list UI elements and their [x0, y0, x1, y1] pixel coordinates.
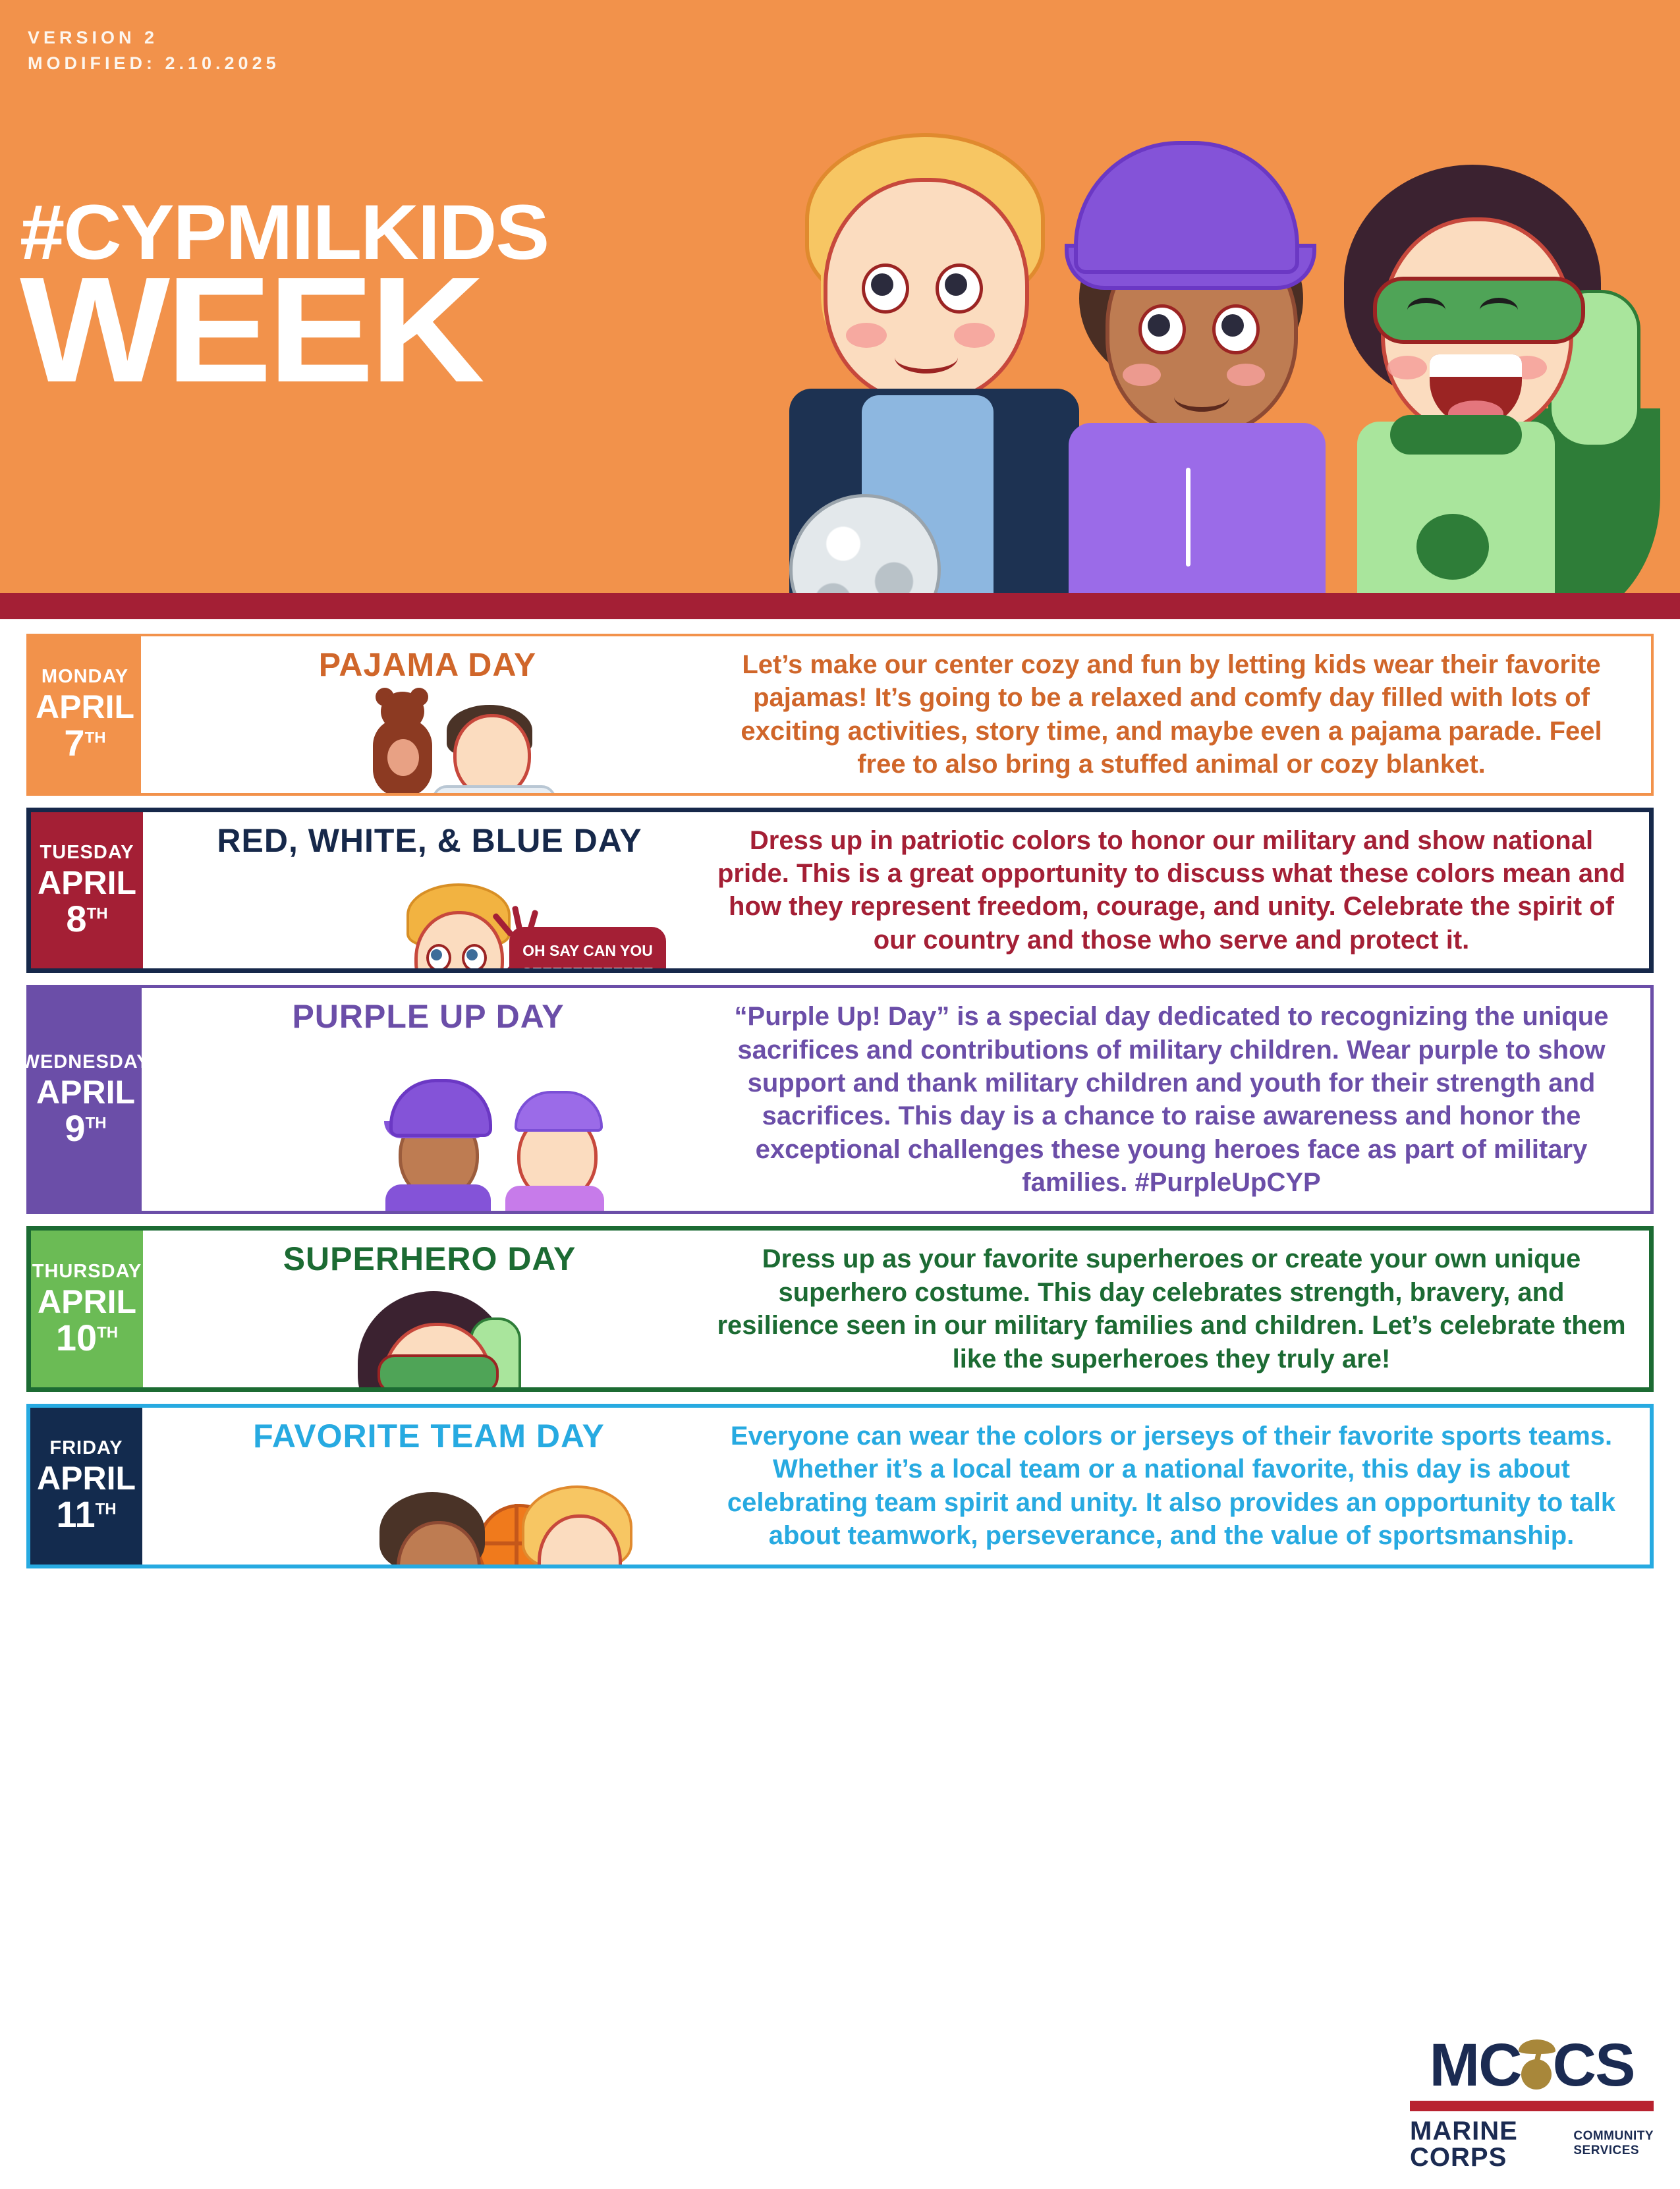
- day-number-label: 7TH: [64, 725, 105, 762]
- day-of-week-label: MONDAY: [42, 667, 128, 686]
- two-children-sports-illustration: 31: [366, 1472, 643, 1565]
- month-label: APRIL: [36, 1076, 135, 1109]
- kid-superhero-illustration: [1318, 125, 1660, 593]
- pajama-day-illustration: [141, 684, 714, 793]
- cat-emblem-icon: [1416, 514, 1489, 580]
- speech-bubble: OH SAY CAN YOU SEEEEEEEEEEEE: [509, 927, 666, 969]
- mccs-logo: MC CS MARINE CORPS COMMUNITY SERVICES: [1410, 2035, 1654, 2171]
- day-of-week-label: TUESDAY: [40, 843, 134, 862]
- kid-purple-cap-illustration: [1054, 125, 1337, 593]
- date-bar-monday: MONDAY APRIL 7TH: [29, 636, 141, 793]
- face-shape: [453, 714, 531, 793]
- day-title-red-white-blue-day: RED, WHITE, & BLUE DAY: [217, 821, 642, 860]
- child-in-pajamas-illustration: [418, 714, 589, 793]
- purple-headband-icon: [515, 1091, 603, 1132]
- day-row-wednesday[interactable]: WEDNESDAY APRIL 9TH PURPLE UP DAY: [26, 985, 1654, 1214]
- mccs-red-rule: [1410, 2101, 1654, 2111]
- day-content-monday: PAJAMA DAY: [141, 636, 1651, 793]
- schedule-list: MONDAY APRIL 7TH PAJAMA DAY: [0, 634, 1680, 1580]
- title-week: WEEK: [20, 269, 559, 392]
- hoodie-shape: [385, 1184, 491, 1211]
- cheek-right: [1227, 364, 1265, 386]
- services-label: SERVICES: [1573, 2144, 1639, 2157]
- mccs-wordmark-row: MC CS: [1410, 2035, 1654, 2095]
- page-header: VERSION 2 MODIFIED: 2.10.2025 #CYPMILKID…: [0, 0, 1680, 593]
- description-text: Let’s make our center cozy and fun by le…: [714, 648, 1629, 781]
- day-title-and-art-tuesday: RED, WHITE, & BLUE DAY ★: [143, 812, 716, 969]
- day-title-superhero-day: SUPERHERO DAY: [283, 1240, 576, 1278]
- day-of-week-label: THURSDAY: [32, 1262, 142, 1281]
- favorite-team-illustration: 31: [142, 1455, 715, 1565]
- day-title-and-art-monday: PAJAMA DAY: [141, 636, 714, 793]
- day-description-monday: Let’s make our center cozy and fun by le…: [714, 636, 1651, 793]
- day-number-label: 11TH: [56, 1496, 116, 1533]
- speech-line-2: SEEEEEEEEEEEE: [522, 962, 653, 969]
- purple-cap-icon: [1074, 141, 1299, 274]
- day-title-and-art-thursday: SUPERHERO DAY: [143, 1231, 716, 1387]
- ordinal-suffix: TH: [96, 1501, 117, 1518]
- marine-corps-label: MARINE CORPS: [1410, 2118, 1565, 2171]
- eye-left: [1407, 298, 1445, 323]
- day-description-friday: Everyone can wear the colors or jerseys …: [715, 1408, 1650, 1565]
- day-title-purple-up-day: PURPLE UP DAY: [292, 997, 564, 1036]
- purple-cap-icon: [389, 1079, 492, 1137]
- cheek-left: [846, 323, 887, 348]
- modified-label: MODIFIED: 2.10.2025: [28, 51, 280, 76]
- day-content-tuesday: RED, WHITE, & BLUE DAY ★: [143, 812, 1649, 969]
- day-number-label: 8TH: [66, 901, 107, 937]
- day-title-favorite-team-day: FAVORITE TEAM DAY: [253, 1417, 605, 1455]
- month-label: APRIL: [36, 690, 134, 723]
- cape-collar: [1390, 415, 1522, 455]
- month-label: APRIL: [38, 866, 136, 899]
- day-of-week-label: WEDNESDAY: [22, 1053, 150, 1072]
- pupil-right: [1221, 314, 1244, 337]
- ordinal-suffix: TH: [86, 1114, 107, 1132]
- ordinal-suffix: TH: [85, 729, 106, 747]
- day-description-tuesday: Dress up in patriotic colors to honor ou…: [716, 812, 1649, 969]
- day-description-thursday: Dress up as your favorite superheroes or…: [716, 1231, 1649, 1387]
- date-bar-thursday: THURSDAY APRIL 10TH: [31, 1231, 143, 1387]
- day-content-friday: FAVORITE TEAM DAY 31: [142, 1408, 1650, 1565]
- pajama-suit-shape: [432, 785, 556, 793]
- version-label: VERSION 2: [28, 25, 280, 51]
- superhero-mask-icon: [1373, 277, 1585, 344]
- mouth-smile: [1174, 382, 1229, 412]
- pupil-left: [1148, 314, 1170, 337]
- day-of-week-label: FRIDAY: [49, 1439, 123, 1458]
- month-label: APRIL: [37, 1462, 136, 1495]
- day-row-thursday[interactable]: THURSDAY APRIL 10TH SUPERHERO DAY: [26, 1226, 1654, 1392]
- header-kids-illustration: [771, 99, 1680, 593]
- day-content-thursday: SUPERHERO DAY Dress u: [143, 1231, 1649, 1387]
- day-title-pajama-day: PAJAMA DAY: [319, 646, 536, 684]
- ordinal-suffix: TH: [87, 904, 108, 922]
- hashtag-purpleupcyp: #PurpleUpCYP: [1134, 1168, 1320, 1197]
- bear-belly: [387, 739, 419, 776]
- description-text: “Purple Up! Day” is a special day dedica…: [715, 1000, 1628, 1199]
- day-title-and-art-friday: FAVORITE TEAM DAY 31: [142, 1408, 715, 1565]
- cheek-right: [954, 323, 995, 348]
- community-label: COMMUNITY: [1573, 2129, 1654, 2143]
- day-content-wednesday: PURPLE UP DAY: [142, 988, 1650, 1211]
- eye-right: [1480, 298, 1518, 323]
- page-footer: MC CS MARINE CORPS COMMUNITY SERVICES: [0, 2057, 1680, 2189]
- description-text: Dress up in patriotic colors to honor ou…: [716, 824, 1627, 957]
- globe-shape: [1521, 2059, 1552, 2090]
- purple-up-illustration: [142, 1036, 715, 1211]
- month-label: APRIL: [38, 1285, 136, 1318]
- date-bar-wednesday: WEDNESDAY APRIL 9TH: [30, 988, 142, 1211]
- date-bar-friday: FRIDAY APRIL 11TH: [30, 1408, 142, 1565]
- day-title-and-art-wednesday: PURPLE UP DAY: [142, 988, 715, 1211]
- day-row-monday[interactable]: MONDAY APRIL 7TH PAJAMA DAY: [26, 634, 1654, 796]
- two-children-in-purple-illustration: [366, 1065, 629, 1211]
- mccs-letters-right: CS: [1553, 2035, 1635, 2095]
- hoodie-shape: [1069, 423, 1326, 593]
- mccs-tagline-row: MARINE CORPS COMMUNITY SERVICES: [1410, 2118, 1654, 2171]
- speech-line-1: OH SAY CAN YOU: [522, 940, 653, 962]
- singing-child-illustration: ★ OH SAY CAN YOU SEEEEEEEEEEEE: [380, 883, 598, 969]
- description-text: Dress up as your favorite superheroes or…: [716, 1242, 1627, 1375]
- pupil-left: [871, 273, 893, 296]
- superhero-mask-icon: [378, 1354, 499, 1387]
- mccs-letters-left: MC: [1430, 2035, 1521, 2095]
- day-row-friday[interactable]: FRIDAY APRIL 11TH FAVORITE TEAM DAY 31: [26, 1404, 1654, 1568]
- pupil-left: [431, 949, 442, 960]
- pupil-right: [466, 949, 478, 960]
- mouth-smile: [895, 341, 958, 374]
- header-red-divider: [0, 593, 1680, 619]
- version-block: VERSION 2 MODIFIED: 2.10.2025: [28, 25, 280, 76]
- eagle-globe-anchor-icon: [1516, 2039, 1558, 2091]
- superhero-day-illustration: [143, 1278, 716, 1387]
- date-bar-tuesday: TUESDAY APRIL 8TH: [31, 812, 143, 969]
- kid-soccer-blonde-illustration: [777, 105, 1087, 593]
- community-services-label: COMMUNITY SERVICES: [1573, 2129, 1654, 2158]
- page-title: #CYPMILKIDS WEEK: [20, 201, 528, 392]
- description-text: Everyone can wear the colors or jerseys …: [715, 1420, 1627, 1553]
- cheek-left: [1387, 356, 1427, 379]
- day-description-wednesday: “Purple Up! Day” is a special day dedica…: [715, 988, 1650, 1211]
- red-white-blue-illustration: ★ OH SAY CAN YOU SEEEEEEEEEEEE: [143, 860, 716, 969]
- day-number-label: 10TH: [56, 1319, 118, 1356]
- day-row-tuesday[interactable]: TUESDAY APRIL 8TH RED, WHITE, & BLUE DAY: [26, 808, 1654, 974]
- dress-shape: [505, 1186, 604, 1211]
- ordinal-suffix: TH: [97, 1323, 118, 1341]
- cheek-left: [1123, 364, 1161, 386]
- hoodie-drawstring: [1186, 468, 1190, 567]
- day-number-label: 9TH: [65, 1110, 106, 1147]
- superhero-child-illustration: [341, 1291, 578, 1387]
- pupil-right: [945, 273, 967, 296]
